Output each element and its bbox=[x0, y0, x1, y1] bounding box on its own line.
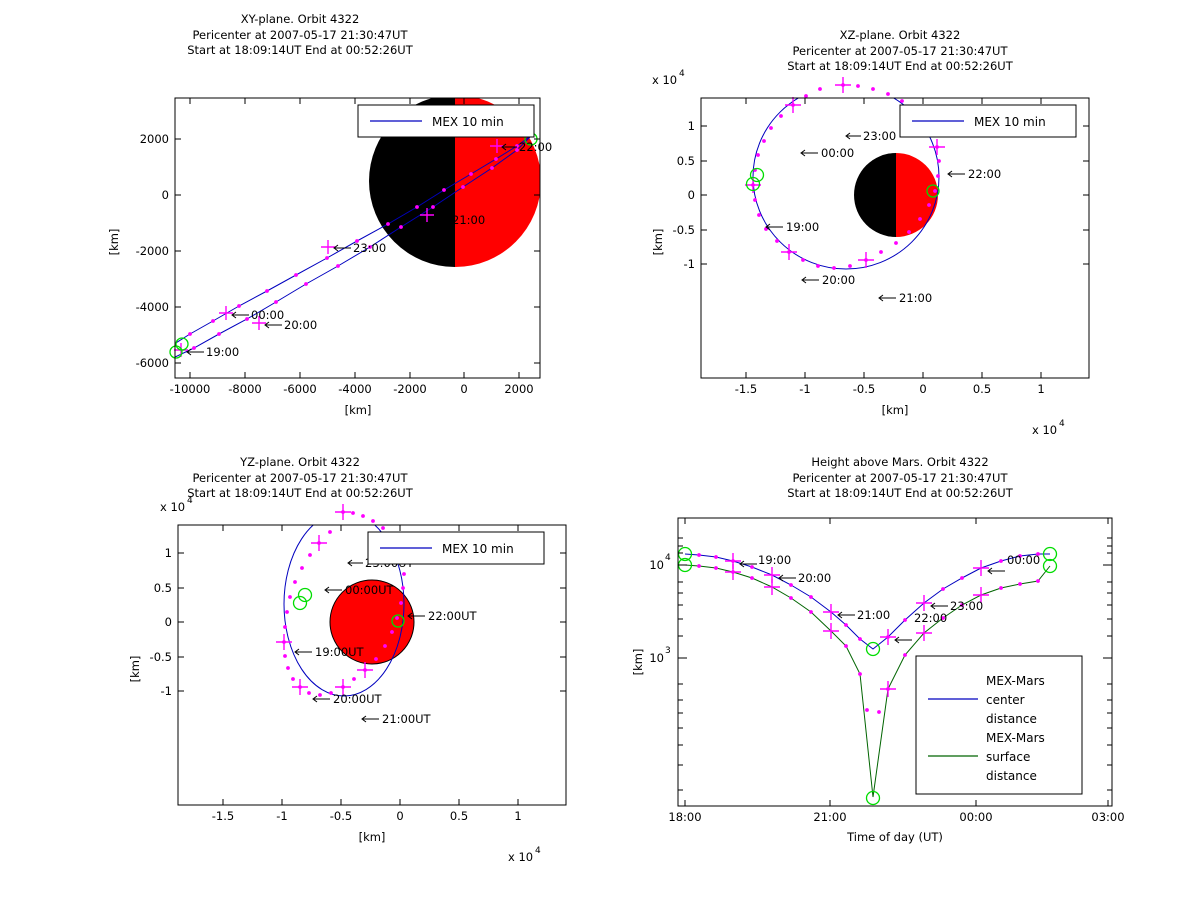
yz-legend-label-mex: MEX 10 min bbox=[442, 542, 514, 556]
xz-xexp-sup: 4 bbox=[1059, 419, 1065, 429]
yz-annot-0000: 00:00UT bbox=[345, 583, 395, 597]
height-annot-2200: 22:00 bbox=[914, 611, 947, 625]
mars-day-half bbox=[896, 153, 938, 237]
panel-height-above-mars: Height above Mars. Orbit 4322 Pericenter… bbox=[600, 450, 1200, 900]
xz-annot-2300: 23:00 bbox=[863, 129, 896, 143]
height-legend-surface-3: distance bbox=[986, 769, 1037, 783]
height-xtick-0: 18:00 bbox=[668, 810, 701, 824]
height-ytick-1-sup: 3 bbox=[665, 646, 671, 656]
height-xtick-2: 00:00 bbox=[959, 810, 992, 824]
xz-annot-2000: 20:00 bbox=[822, 273, 855, 287]
xy-subtitle-pericenter: Pericenter at 2007-05-17 21:30:47UT bbox=[0, 28, 600, 44]
xz-yaxis-label: [km] bbox=[651, 229, 665, 256]
yz-title: YZ-plane. Orbit 4322 bbox=[0, 455, 600, 471]
xz-xaxis-exponent: x 10 4 bbox=[1032, 419, 1065, 437]
yz-annot-2000: 20:00UT bbox=[333, 692, 383, 706]
xz-ytick-2: 0 bbox=[688, 188, 695, 202]
height-yaxis-label: [km] bbox=[631, 649, 645, 676]
xy-y-ticklabels: 2000 0 -2000 -4000 -6000 bbox=[136, 132, 169, 370]
xz-yexp-base: x 10 bbox=[652, 73, 677, 87]
height-ytick-0: 10 bbox=[649, 558, 664, 572]
xz-ytick-0: 1 bbox=[688, 119, 695, 133]
xy-xaxis-label: [km] bbox=[345, 403, 372, 417]
height-plot-svg: 19:00 20:00 21:00 22:00 23:00 00:00 18:0… bbox=[600, 450, 1200, 900]
xz-y-ticklabels: 1 0.5 0 -0.5 -1 bbox=[673, 119, 695, 271]
xy-xtick-6: 2000 bbox=[504, 382, 533, 396]
height-annot-0000: 00:00 bbox=[1007, 553, 1040, 567]
yz-subtitle-startend: Start at 18:09:14UT End at 00:52:26UT bbox=[0, 486, 600, 502]
xz-xaxis-label: [km] bbox=[882, 403, 909, 417]
xz-title-block: XZ-plane. Orbit 4322 Pericenter at 2007-… bbox=[600, 28, 1200, 75]
panel-xy-plane: XY-plane. Orbit 4322 Pericenter at 2007-… bbox=[0, 0, 600, 450]
height-legend-surface-2: surface bbox=[986, 750, 1030, 764]
height-legend-surface-1: MEX-Mars bbox=[986, 731, 1045, 745]
xy-xtick-2: -6000 bbox=[283, 382, 316, 396]
xy-annot-2000: 20:00 bbox=[284, 318, 317, 332]
xz-subtitle-pericenter: Pericenter at 2007-05-17 21:30:47UT bbox=[600, 44, 1200, 60]
xy-title: XY-plane. Orbit 4322 bbox=[0, 12, 600, 28]
xz-xexp-base: x 10 bbox=[1032, 423, 1057, 437]
yz-annot-1900: 19:00UT bbox=[315, 645, 365, 659]
xy-annot-1900: 19:00 bbox=[206, 345, 239, 359]
xz-subtitle-startend: Start at 18:09:14UT End at 00:52:26UT bbox=[600, 59, 1200, 75]
yz-legend[interactable]: MEX 10 min bbox=[368, 532, 544, 564]
xz-x-ticklabels: -1.5 -1 -0.5 0 0.5 1 bbox=[735, 382, 1045, 396]
yz-annot-2200: 22:00UT bbox=[428, 609, 478, 623]
height-title-block: Height above Mars. Orbit 4322 Pericenter… bbox=[600, 455, 1200, 502]
xz-annot-2200: 22:00 bbox=[968, 167, 1001, 181]
height-legend-center-3: distance bbox=[986, 712, 1037, 726]
height-xtick-3: 03:00 bbox=[1091, 810, 1124, 824]
xz-ytick-1: 0.5 bbox=[677, 154, 695, 168]
xz-xtick-1: -1 bbox=[799, 382, 810, 396]
height-x-ticklabels: 18:00 21:00 00:00 03:00 bbox=[668, 810, 1124, 824]
xy-legend[interactable]: MEX 10 min bbox=[358, 105, 534, 137]
xy-xtick-1: -8000 bbox=[228, 382, 261, 396]
xz-title: XZ-plane. Orbit 4322 bbox=[600, 28, 1200, 44]
height-title: Height above Mars. Orbit 4322 bbox=[600, 455, 1200, 471]
yz-xaxis-label: [km] bbox=[359, 830, 386, 844]
height-legend-center-1: MEX-Mars bbox=[986, 674, 1045, 688]
yz-xtick-0: -1.5 bbox=[212, 809, 234, 823]
xz-annot-0000: 00:00 bbox=[821, 146, 854, 160]
xy-xtick-0: -10000 bbox=[170, 382, 211, 396]
xz-legend-label-mex: MEX 10 min bbox=[974, 115, 1046, 129]
xz-xtick-2: -0.5 bbox=[853, 382, 875, 396]
xy-ytick-1: 0 bbox=[162, 188, 169, 202]
xy-plot-svg: 22:00 21:00 23:00 00:00 20:00 19:00 -100… bbox=[0, 0, 600, 450]
yz-xexp-base: x 10 bbox=[508, 850, 533, 864]
mars-night-half bbox=[854, 153, 896, 237]
yz-ytick-4: -1 bbox=[161, 684, 172, 698]
xz-xtick-4: 0.5 bbox=[973, 382, 991, 396]
xy-annot-2200: 22:00 bbox=[519, 140, 552, 154]
panel-xz-plane: XZ-plane. Orbit 4322 Pericenter at 2007-… bbox=[600, 0, 1200, 450]
height-annot-2100: 21:00 bbox=[857, 608, 890, 622]
yz-xtick-1: -1 bbox=[276, 809, 287, 823]
xy-annot-2300: 23:00 bbox=[353, 241, 386, 255]
yz-xexp-sup: 4 bbox=[535, 846, 541, 856]
yz-xtick-5: 1 bbox=[514, 809, 521, 823]
yz-annot-2100: 21:00UT bbox=[382, 712, 432, 726]
xz-ytick-4: -1 bbox=[684, 257, 695, 271]
xz-xtick-5: 1 bbox=[1037, 382, 1044, 396]
xy-xtick-3: -4000 bbox=[338, 382, 371, 396]
height-hour-annotations: 19:00 20:00 21:00 22:00 23:00 00:00 bbox=[740, 553, 1040, 643]
yz-xaxis-exponent: x 10 4 bbox=[508, 846, 541, 864]
height-xtick-1: 21:00 bbox=[813, 810, 846, 824]
xy-yaxis-label: [km] bbox=[107, 229, 121, 256]
yz-x-ticklabels: -1.5 -1 -0.5 0 0.5 1 bbox=[212, 809, 522, 823]
yz-plot-svg: 00:00UT 22:00UT 19:00UT 20:00UT 21:00UT … bbox=[0, 450, 600, 900]
yz-xtick-3: 0 bbox=[396, 809, 403, 823]
yz-subtitle-pericenter: Pericenter at 2007-05-17 21:30:47UT bbox=[0, 471, 600, 487]
yz-yexp-base: x 10 bbox=[160, 500, 185, 514]
yz-ytick-3: -0.5 bbox=[150, 650, 172, 664]
height-subtitle-pericenter: Pericenter at 2007-05-17 21:30:47UT bbox=[600, 471, 1200, 487]
yz-xtick-2: -0.5 bbox=[330, 809, 352, 823]
yz-ytick-2: 0 bbox=[165, 615, 172, 629]
xz-annot-2100: 21:00 bbox=[899, 291, 932, 305]
yz-title-block: YZ-plane. Orbit 4322 Pericenter at 2007-… bbox=[0, 455, 600, 502]
height-ytick-0-sup: 4 bbox=[665, 553, 671, 563]
height-legend[interactable]: MEX-Mars center distance MEX-Mars surfac… bbox=[916, 656, 1082, 794]
height-annot-1900: 19:00 bbox=[758, 553, 791, 567]
figure-canvas: XY-plane. Orbit 4322 Pericenter at 2007-… bbox=[0, 0, 1200, 900]
xy-title-block: XY-plane. Orbit 4322 Pericenter at 2007-… bbox=[0, 12, 600, 59]
height-annot-2000: 20:00 bbox=[798, 571, 831, 585]
yz-xtick-4: 0.5 bbox=[450, 809, 468, 823]
xy-ytick-0: 2000 bbox=[140, 132, 169, 146]
yz-yaxis-label: [km] bbox=[128, 656, 142, 683]
xy-annot-0000: 00:00 bbox=[251, 308, 284, 322]
xz-xtick-0: -1.5 bbox=[735, 382, 757, 396]
xy-subtitle-startend: Start at 18:09:14UT End at 00:52:26UT bbox=[0, 43, 600, 59]
height-subtitle-startend: Start at 18:09:14UT End at 00:52:26UT bbox=[600, 486, 1200, 502]
yz-ytick-0: 1 bbox=[165, 546, 172, 560]
xy-ytick-4: -6000 bbox=[136, 356, 169, 370]
panel-yz-plane: YZ-plane. Orbit 4322 Pericenter at 2007-… bbox=[0, 450, 600, 900]
height-ytick-1: 10 bbox=[649, 651, 664, 665]
xz-ytick-3: -0.5 bbox=[673, 223, 695, 237]
xy-xtick-4: -2000 bbox=[393, 382, 426, 396]
xy-x-ticklabels: -10000 -8000 -6000 -4000 -2000 0 2000 bbox=[170, 382, 534, 396]
xy-legend-label-mex: MEX 10 min bbox=[432, 115, 504, 129]
height-xaxis-label: Time of day (UT) bbox=[846, 830, 943, 844]
xz-annot-1900: 19:00 bbox=[786, 220, 819, 234]
height-annot-2300: 23:00 bbox=[950, 599, 983, 613]
xy-ytick-2: -2000 bbox=[136, 244, 169, 258]
height-y-ticklabels: 10 4 10 3 bbox=[649, 553, 671, 665]
xy-ytick-3: -4000 bbox=[136, 300, 169, 314]
xz-xtick-3: 0 bbox=[919, 382, 926, 396]
yz-ytick-1: 0.5 bbox=[154, 581, 172, 595]
height-legend-center-2: center bbox=[986, 693, 1025, 707]
xz-legend[interactable]: MEX 10 min bbox=[900, 105, 1076, 137]
xy-xtick-5: 0 bbox=[460, 382, 467, 396]
yz-y-ticklabels: 1 0.5 0 -0.5 -1 bbox=[150, 546, 172, 698]
xy-annot-2100: 21:00 bbox=[452, 213, 485, 227]
